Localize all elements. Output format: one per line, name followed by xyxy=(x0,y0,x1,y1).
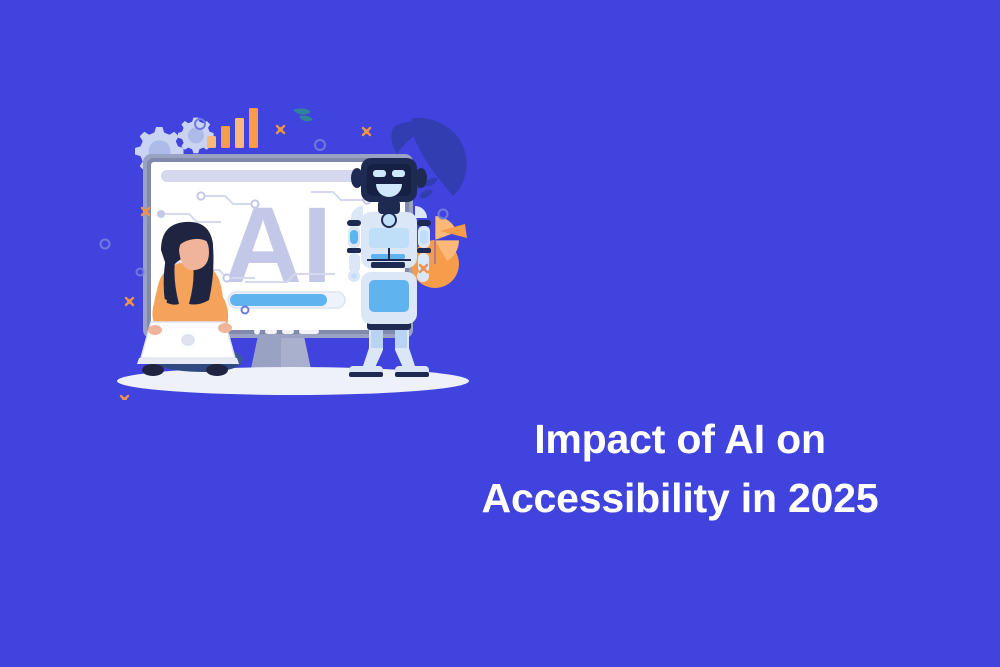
ai-text: AI xyxy=(224,184,332,305)
page-canvas: AI xyxy=(0,0,1000,667)
page-title: Impact of AI on Accessibility in 2025 xyxy=(460,410,900,528)
bar-chart-decoration xyxy=(207,108,258,148)
browser-bar xyxy=(161,170,373,182)
page-title-line-2: Accessibility in 2025 xyxy=(460,469,900,528)
page-title-line-1: Impact of AI on xyxy=(460,410,900,469)
leaf-decoration xyxy=(293,108,313,121)
ai-accessibility-illustration: AI xyxy=(95,100,495,400)
